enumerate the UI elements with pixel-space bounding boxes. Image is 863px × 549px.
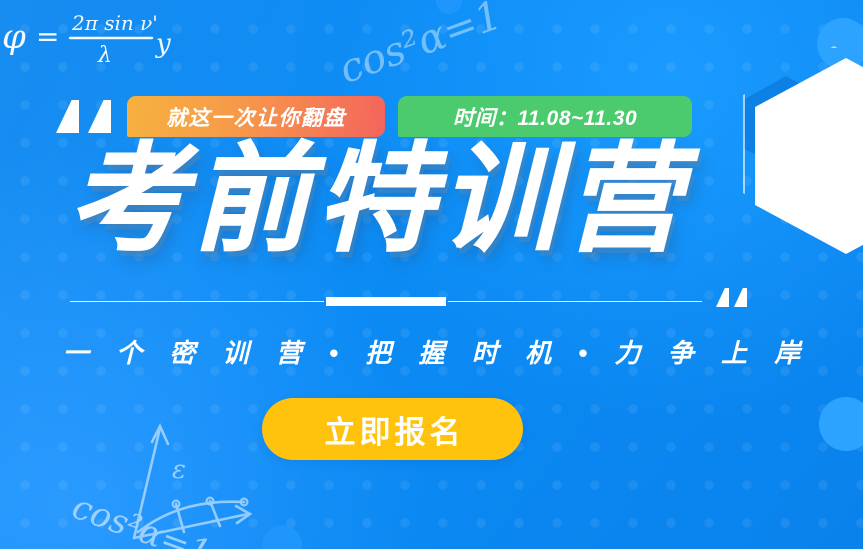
formula-tail-variable: y xyxy=(155,29,171,59)
signup-button[interactable]: 立即报名 xyxy=(262,398,523,460)
promo-tag: 就这一次让你翻盘 xyxy=(127,96,385,137)
quote-glyph-left xyxy=(56,100,79,133)
formula-numerator: 2π sin ν' xyxy=(71,11,158,35)
divider-rule-left xyxy=(70,301,324,303)
quote-glyph-right xyxy=(88,100,111,133)
quote-mark-close xyxy=(716,288,747,307)
background-sheen xyxy=(0,0,863,549)
formula-denominator: λ xyxy=(97,43,112,68)
formula-phi-symbol: φ xyxy=(2,17,26,57)
handwritten-formula-bottom-right-icon: φ = 2π sin ν' λ y xyxy=(0,0,182,74)
page-title: 考前特训营 xyxy=(68,141,688,259)
date-tag: 时间：11.08~11.30 xyxy=(398,96,692,137)
divider-center-nub xyxy=(326,297,446,306)
formula-equals-sign: = xyxy=(36,20,59,53)
promo-banner: cos²α=1 ε cos²α=1 φ = 2π sin ν' λ y xyxy=(0,0,863,549)
quote-mark-open xyxy=(56,100,111,133)
divider xyxy=(70,300,702,303)
quote-glyph-right xyxy=(734,288,747,307)
divider-rule-right xyxy=(448,301,702,303)
quote-glyph-left xyxy=(716,288,729,307)
subtitle: 一 个 密 训 营 • 把 握 时 机 • 力 争 上 岸 xyxy=(0,333,863,370)
tag-row: 就这一次让你翻盘 时间：11.08~11.30 xyxy=(127,96,692,137)
